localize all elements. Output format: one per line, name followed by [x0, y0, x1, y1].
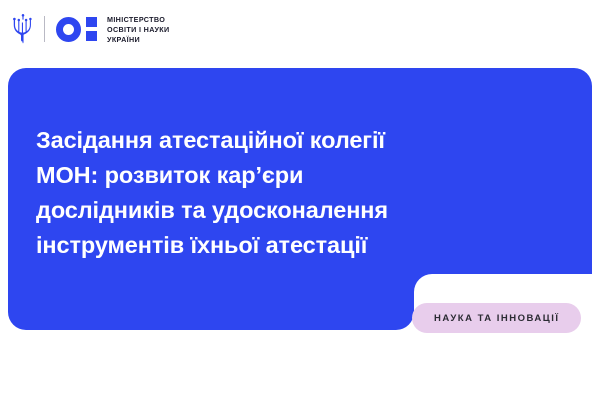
- logo-square-top: [86, 17, 97, 27]
- category-tag-label: НАУКА ТА ІННОВАЦІЇ: [434, 313, 559, 324]
- category-tag[interactable]: НАУКА ТА ІННОВАЦІЇ: [412, 303, 581, 333]
- page-title: Засідання атестаційної колегії МОН: розв…: [36, 123, 536, 263]
- banner-panel: Засідання атестаційної колегії МОН: розв…: [8, 68, 592, 330]
- logo-squares-shape: [86, 17, 97, 41]
- logo-divider: [44, 16, 45, 42]
- headline-line-3: дослідників та удосконалення: [36, 193, 536, 228]
- ministry-line-2: ОСВІТИ І НАУКИ: [107, 25, 170, 34]
- headline-line-1: Засідання атестаційної колегії: [36, 123, 536, 158]
- headline-line-2: МОН: розвиток кар’єри: [36, 158, 536, 193]
- logo-ring-shape: [56, 17, 81, 42]
- ministry-line-3: УКРАЇНИ: [107, 35, 170, 44]
- headline-line-4: інструментів їхньої атестації: [36, 228, 536, 263]
- ministry-name: МІНІСТЕРСТВО ОСВІТИ І НАУКИ УКРАЇНИ: [107, 15, 170, 44]
- site-header: МІНІСТЕРСТВО ОСВІТИ І НАУКИ УКРАЇНИ: [0, 0, 600, 58]
- mon-circle-squares-icon: [56, 17, 97, 42]
- ministry-line-1: МІНІСТЕРСТВО: [107, 15, 170, 24]
- ukraine-trident-icon: [12, 14, 34, 44]
- logo-square-bottom: [86, 31, 97, 41]
